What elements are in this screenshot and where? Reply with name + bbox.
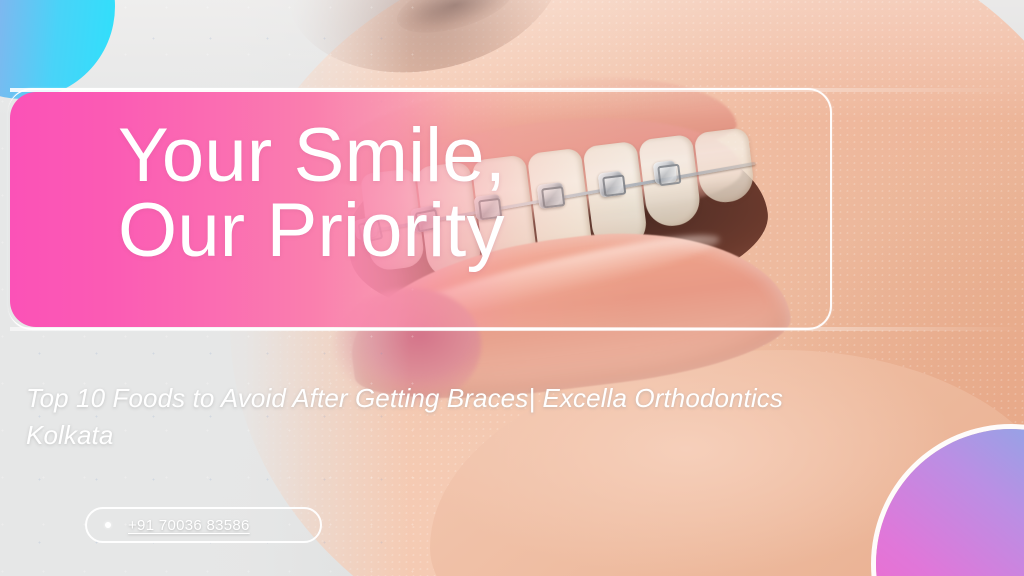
phone-contact-pill[interactable]: +91 70036 83586 bbox=[85, 507, 322, 543]
slide-canvas: Your Smile, Our Priority Top 10 Foods to… bbox=[0, 0, 1024, 576]
subtitle-text: Top 10 Foods to Avoid After Getting Brac… bbox=[26, 380, 796, 454]
bullet-dot-icon bbox=[105, 522, 111, 528]
phone-number-link[interactable]: +91 70036 83586 bbox=[128, 517, 250, 534]
page-title: Your Smile, Our Priority bbox=[118, 118, 878, 268]
